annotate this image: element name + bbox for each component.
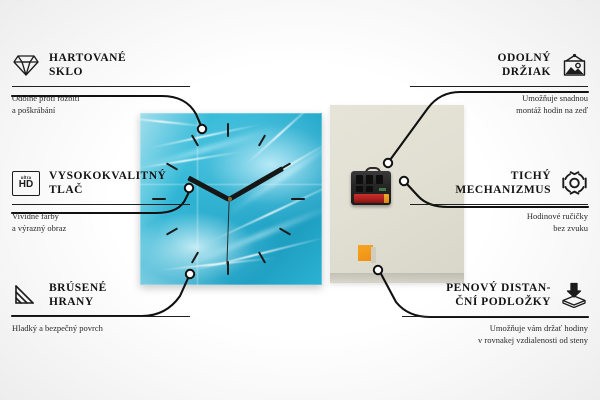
clock-tick	[291, 198, 305, 200]
clock-center-pin	[228, 197, 232, 201]
ultra-hd-main-label: HD	[19, 180, 33, 190]
feature-title: TICHÝ MECHANIZMUS	[455, 169, 551, 198]
feature-title: HARTOVANÉ SKLO	[49, 51, 126, 80]
feature-durable-holder: ODOLNÝ DRŽIAK Umožňuje snadnou montáž ho…	[410, 48, 588, 117]
feature-foam-spacers: PENOVÝ DISTAN- ČNÍ PODLOŽKY Umožňuje vám…	[402, 278, 588, 347]
feature-description: Hladký a bezpečný povrch	[12, 322, 190, 334]
clock-tick	[279, 227, 291, 235]
gear-icon	[560, 169, 588, 197]
divider	[410, 204, 588, 205]
picture-hanger-icon	[560, 51, 588, 79]
foam-spacer-pad	[358, 245, 376, 263]
feature-print-quality: ultra HD VYSOKOKVALITNÝ TLAČ Vividné far…	[12, 166, 190, 235]
divider	[12, 204, 190, 205]
clock-movement	[351, 167, 391, 205]
divider	[402, 316, 588, 317]
feature-title: ODOLNÝ DRŽIAK	[498, 51, 551, 80]
foam-spacer-icon	[560, 281, 588, 309]
divider	[410, 86, 588, 87]
ultra-hd-icon: ultra HD	[12, 169, 40, 197]
movement-body	[351, 171, 391, 205]
divider	[12, 86, 190, 87]
clock-hour-hand	[187, 176, 230, 202]
diamond-icon	[12, 51, 40, 79]
feature-hardened-glass: HARTOVANÉ SKLO Odolné proti rozbití a po…	[12, 48, 190, 117]
feature-silent-mechanism: TICHÝ MECHANIZMUS Hodinové ručičky bez z…	[410, 166, 588, 235]
feature-description: Umožňuje vám držať hodiny v rovnakej vzd…	[402, 322, 588, 347]
feature-description: Vividné farby a výrazný obraz	[12, 210, 190, 235]
battery-terminal	[384, 194, 389, 203]
feature-title: BRÚSENÉ HRANY	[49, 281, 107, 310]
feature-title: PENOVÝ DISTAN- ČNÍ PODLOŽKY	[446, 281, 551, 310]
feature-title: VYSOKOKVALITNÝ TLAČ	[49, 169, 166, 198]
infographic-canvas: HARTOVANÉ SKLO Odolné proti rozbití a po…	[0, 0, 600, 400]
feature-description: Hodinové ručičky bez zvuku	[410, 210, 588, 235]
feature-description: Odolné proti rozbití a poškrábání	[12, 92, 190, 117]
ground-edges-icon	[12, 281, 40, 309]
feature-description: Umožňuje snadnou montáž hodin na zeď	[410, 92, 588, 117]
battery	[354, 194, 385, 203]
clock-tick	[227, 123, 229, 137]
divider	[12, 316, 190, 317]
feature-ground-edges: BRÚSENÉ HRANY Hladký a bezpečný povrch	[12, 278, 190, 334]
movement-contact	[379, 188, 386, 191]
